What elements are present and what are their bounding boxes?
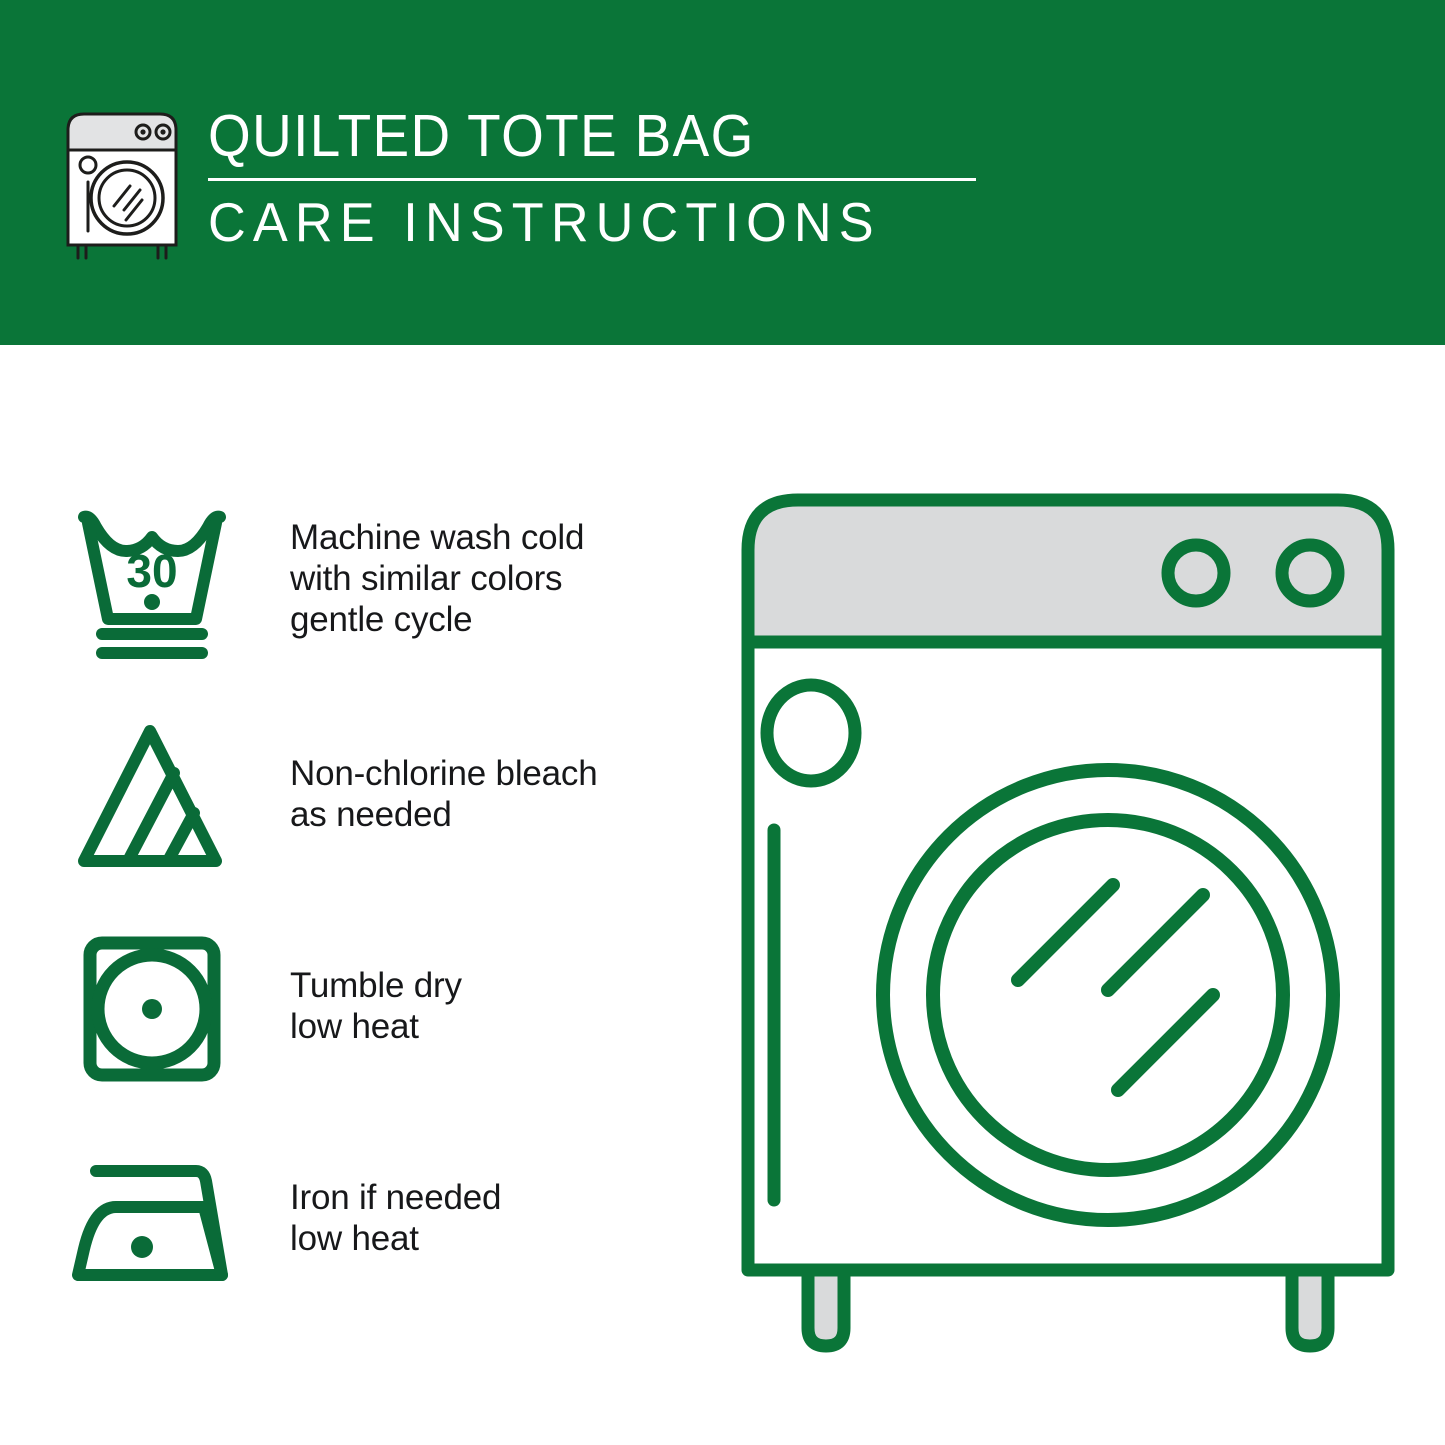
care-line: with similar colors (290, 558, 690, 599)
care-row-tumble-dry: Tumble dry low heat (70, 915, 690, 1125)
care-row-iron: Iron if needed low heat (70, 1125, 690, 1335)
care-text-bleach: Non-chlorine bleach as needed (290, 753, 690, 835)
wash-basin-30-icon: 30 (70, 501, 235, 661)
tumble-dry-icon (70, 929, 235, 1089)
bleach-triangle-icon (70, 717, 235, 877)
care-text-machine-wash: Machine wash cold with similar colors ge… (290, 517, 690, 640)
header-banner: QUILTED TOTE BAG CARE INSTRUCTIONS (0, 0, 1445, 345)
care-line: Tumble dry (290, 965, 690, 1006)
control-panel (748, 500, 1388, 642)
care-line: Non-chlorine bleach (290, 753, 690, 794)
washing-machine-icon (62, 108, 182, 263)
washing-machine-illustration (718, 470, 1418, 1370)
care-row-bleach: Non-chlorine bleach as needed (70, 705, 690, 915)
care-line: low heat (290, 1218, 690, 1259)
care-text-iron: Iron if needed low heat (290, 1177, 690, 1259)
care-text-tumble-dry: Tumble dry low heat (290, 965, 690, 1047)
wash-temperature-value: 30 (126, 545, 177, 597)
leg-left (808, 1270, 844, 1346)
care-line: low heat (290, 1006, 690, 1047)
care-instruction-list: 30 Machine wash cold with similar colors… (70, 495, 690, 1335)
care-row-machine-wash: 30 Machine wash cold with similar colors… (70, 495, 690, 705)
title-divider (208, 178, 976, 181)
header-content: QUILTED TOTE BAG CARE INSTRUCTIONS (62, 100, 1022, 270)
iron-icon (70, 1149, 235, 1309)
machine-body (748, 642, 1388, 1270)
page-title: QUILTED TOTE BAG (208, 100, 971, 172)
care-line: as needed (290, 794, 690, 835)
leg-right (1292, 1270, 1328, 1346)
care-line: gentle cycle (290, 599, 690, 640)
page-subtitle: CARE INSTRUCTIONS (208, 189, 987, 255)
header-title-block: QUILTED TOTE BAG CARE INSTRUCTIONS (208, 100, 1028, 255)
care-line: Machine wash cold (290, 517, 690, 558)
care-line: Iron if needed (290, 1177, 690, 1218)
